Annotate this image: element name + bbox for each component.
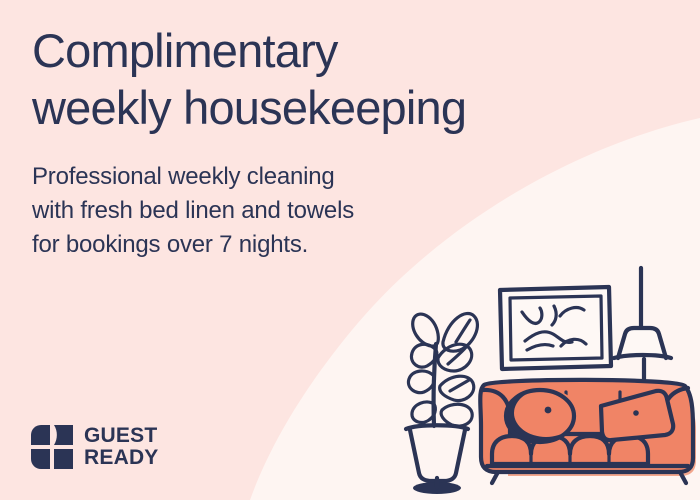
guest-ready-quadrant-mark-icon: [30, 424, 74, 470]
subheading: Professional weekly cleaning with fresh …: [32, 160, 452, 262]
potted-plant-icon: [406, 314, 477, 494]
brand-wordmark-line-2: READY: [84, 447, 159, 469]
promo-banner: Complimentary weekly housekeeping Profes…: [0, 0, 700, 500]
brand-wordmark-line-1: GUEST: [84, 425, 159, 447]
brand-wordmark: GUEST READY: [84, 425, 159, 469]
subhead-line-1: Professional weekly cleaning: [32, 160, 452, 194]
pendant-lamp-icon: [614, 268, 671, 386]
framed-picture-icon: [500, 287, 611, 369]
living-room-illustration: .ink { fill:none; stroke:#2B3455; stroke…: [388, 258, 700, 500]
page-title: Complimentary weekly housekeeping: [32, 22, 632, 137]
headline-line-1: Complimentary: [32, 22, 632, 79]
headline-line-2: weekly housekeeping: [32, 79, 632, 136]
subhead-line-2: with fresh bed linen and towels: [32, 194, 452, 228]
brand-logo: GUEST READY: [30, 424, 159, 470]
round-cushion-icon: [506, 389, 578, 442]
